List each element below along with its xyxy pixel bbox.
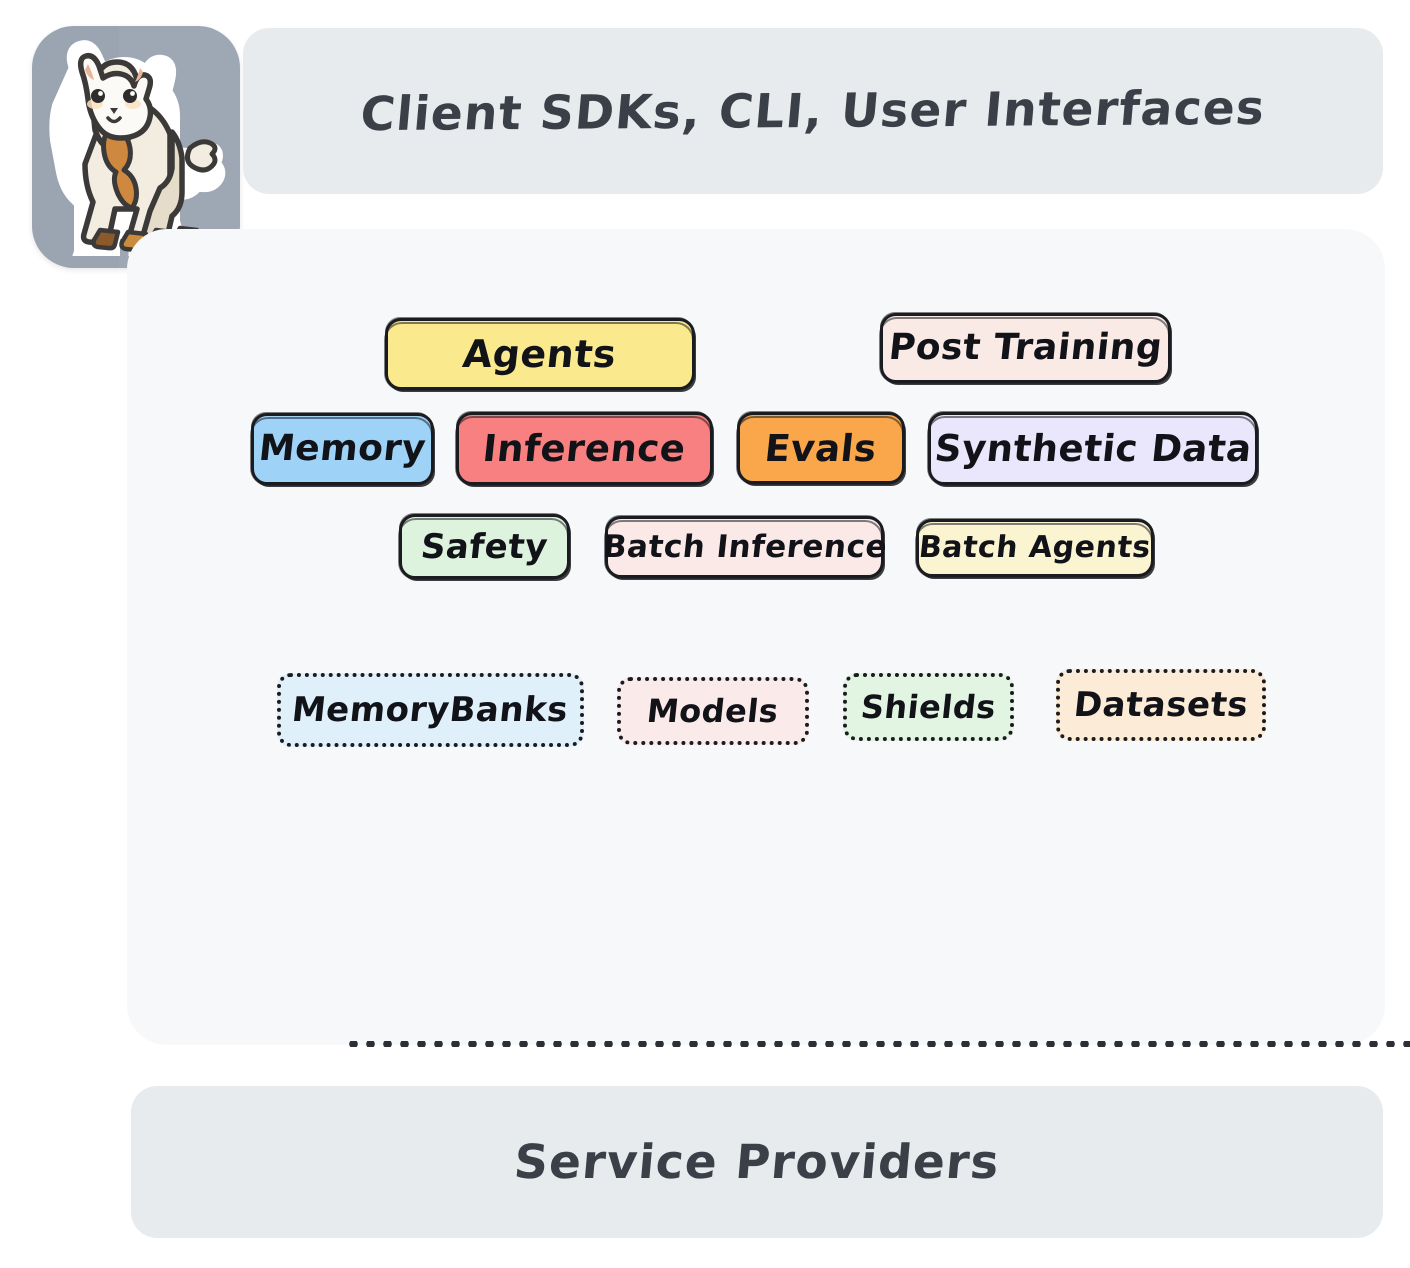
service-providers-bar: Service Providers [131,1086,1383,1238]
api-box-safety[interactable]: Safety [399,514,570,579]
api-box-post-training[interactable]: Post Training [880,313,1171,383]
api-box-inference[interactable]: Inference [456,412,713,485]
api-box-evals[interactable]: Evals [737,412,905,484]
llama-stack-panel: AgentsPost TrainingMemoryInferenceEvalsS… [127,229,1385,1045]
resource-box-memory-banks-label: MemoryBanks [291,693,571,727]
client-layer-bar: Client SDKs, CLI, User Interfaces [243,28,1383,194]
api-box-post-training-label: Post Training [887,330,1164,366]
api-box-agents-label: Agents [461,335,618,373]
api-box-evals-label: Evals [763,430,878,467]
resource-box-models-label: Models [646,695,781,727]
layer-divider [345,1041,1410,1047]
api-box-batch-inference[interactable]: Batch Inference [605,516,884,578]
resource-box-models[interactable]: Models [617,677,809,745]
api-box-memory[interactable]: Memory [251,413,434,485]
resource-box-datasets-label: Datasets [1072,688,1250,722]
api-box-batch-inference-label: Batch Inference [601,532,888,563]
api-box-batch-agents-label: Batch Agents [918,533,1153,563]
service-providers-label: Service Providers [124,1086,1389,1238]
api-box-batch-agents[interactable]: Batch Agents [916,519,1154,577]
api-box-synthetic-data[interactable]: Synthetic Data [928,412,1258,485]
resource-box-memory-banks[interactable]: MemoryBanks [277,673,584,747]
llama-logo-icon [40,38,230,256]
api-box-memory-label: Memory [257,431,428,467]
api-box-inference-label: Inference [481,430,687,467]
api-box-agents[interactable]: Agents [385,318,695,390]
resource-box-datasets[interactable]: Datasets [1056,669,1266,741]
client-layer-label: Client SDKs, CLI, User Interfaces [235,24,1390,198]
api-box-safety-label: Safety [419,530,549,564]
resource-box-shields[interactable]: Shields [843,673,1014,741]
resource-box-shields-label: Shields [859,691,997,723]
api-box-synthetic-data-label: Synthetic Data [933,430,1254,467]
